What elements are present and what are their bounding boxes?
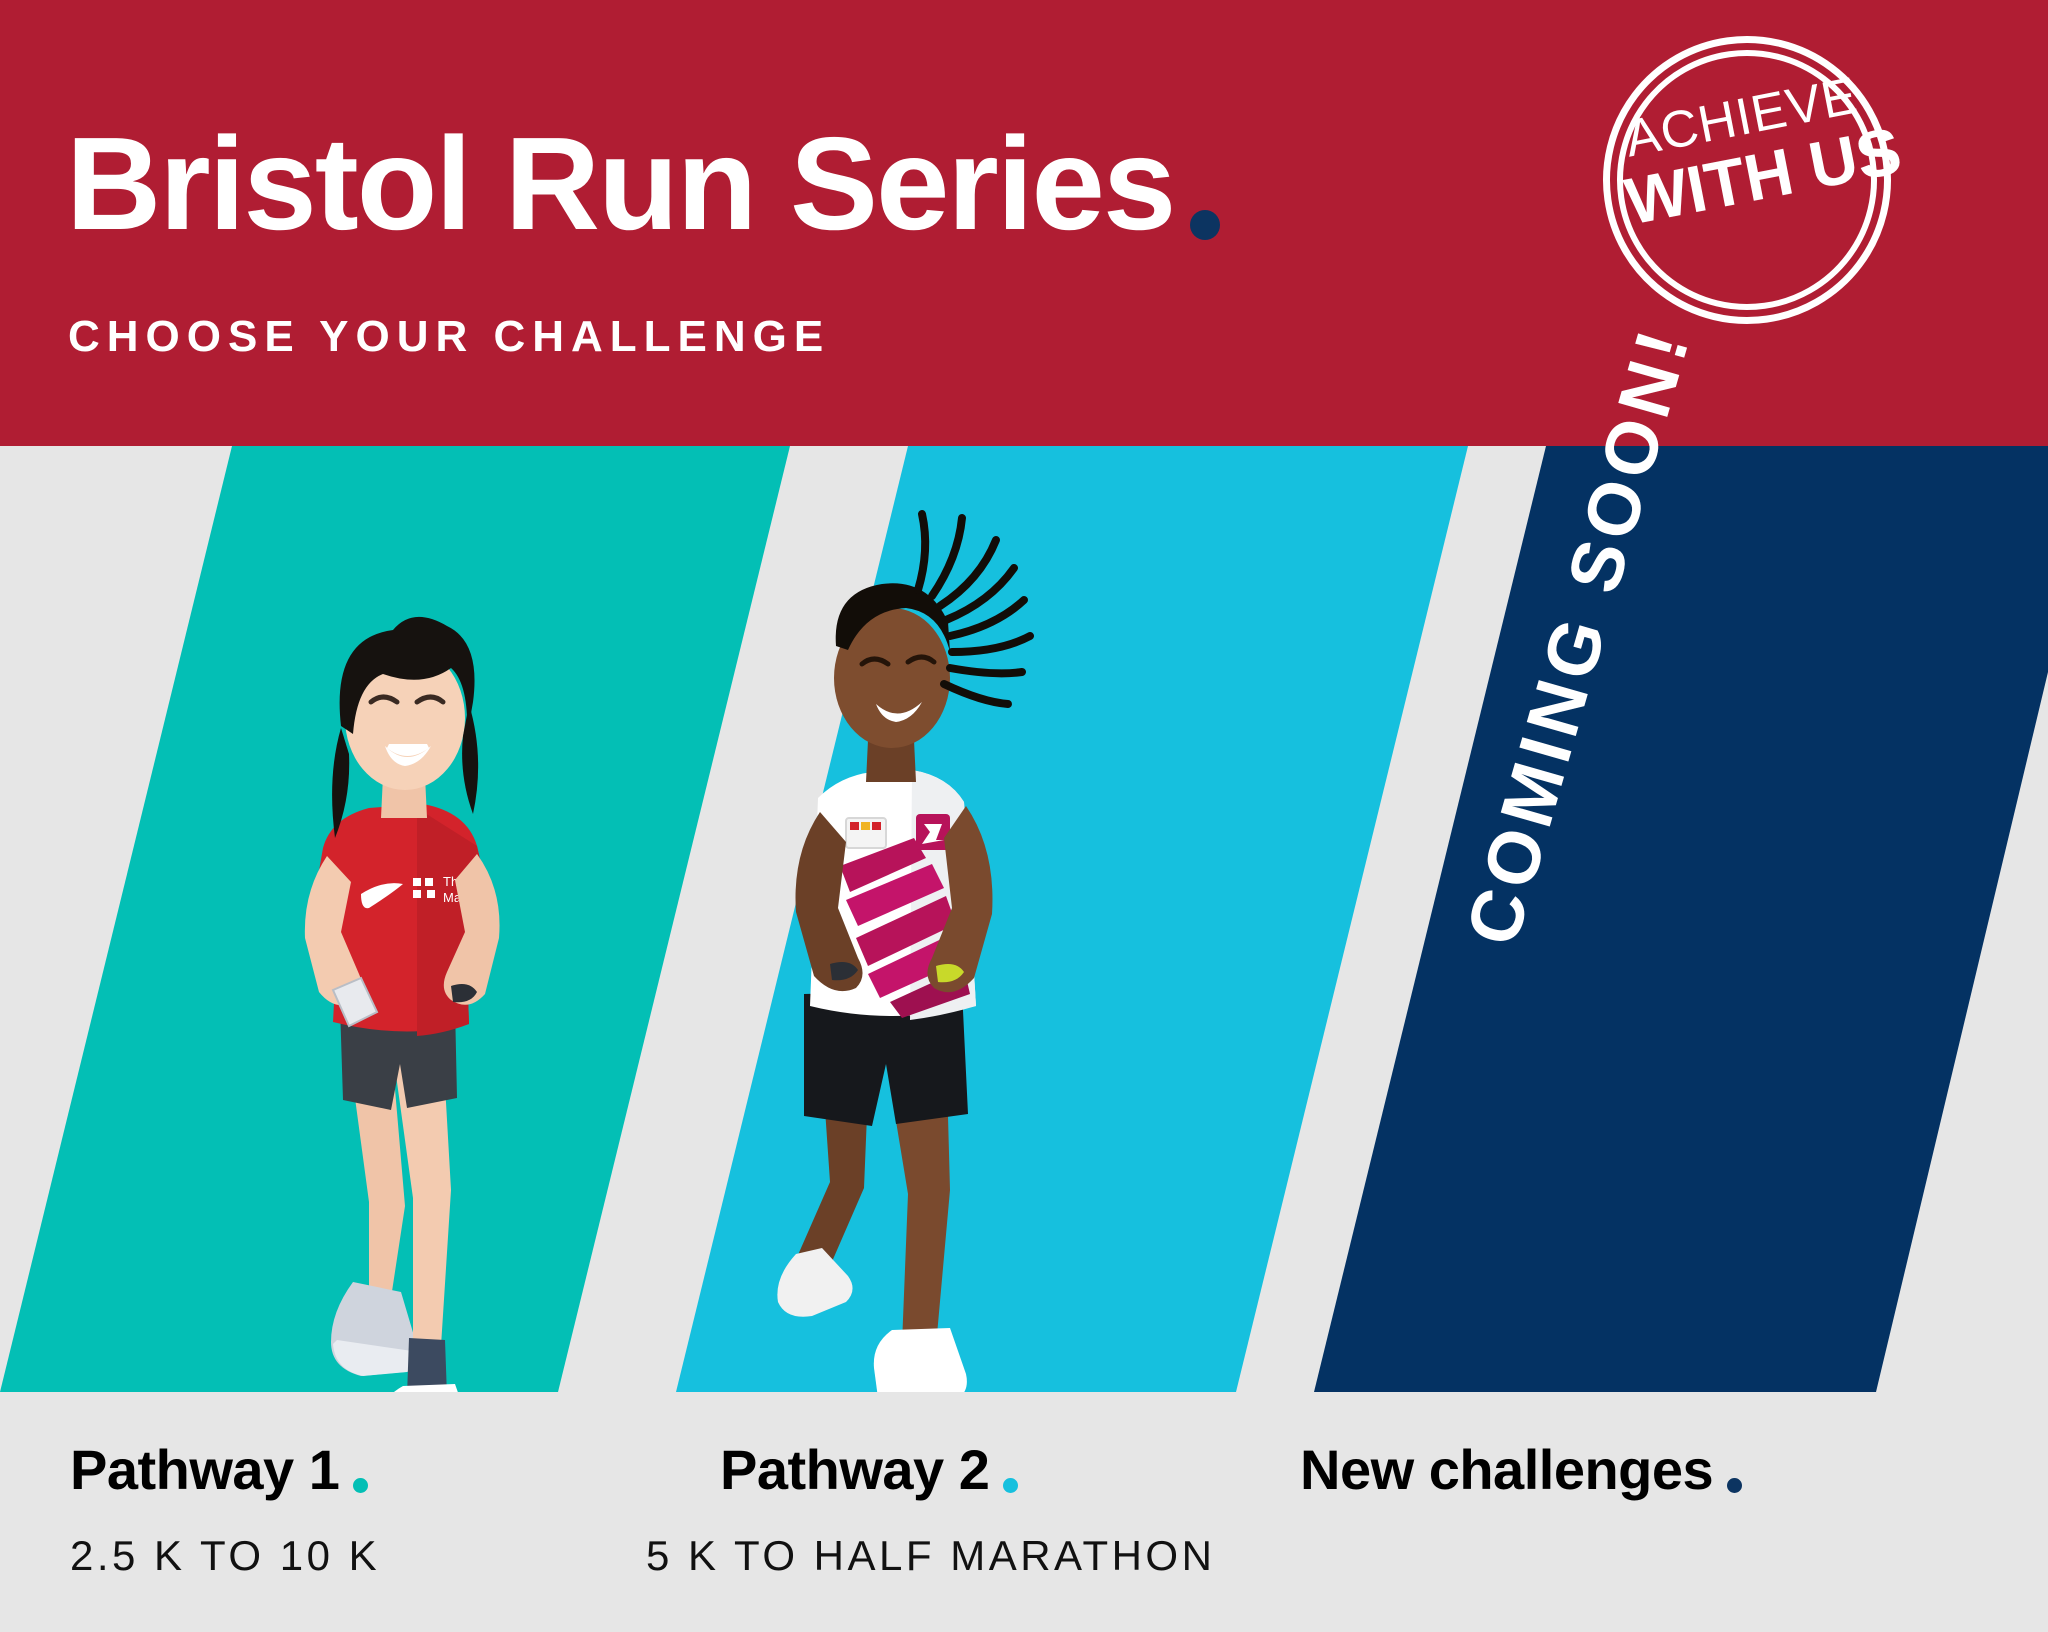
footer-labels: Pathway 1 2.5 K TO 10 K Pathway 2 5 K TO… (0, 1392, 2048, 1632)
new-challenges-accent-dot (1727, 1478, 1742, 1493)
label-title-row: Pathway 1 (70, 1442, 380, 1498)
label-block-new-challenges[interactable]: New challenges (1300, 1442, 1742, 1532)
pathway-1-title: Pathway 1 (70, 1442, 339, 1498)
female-runner-red-shirt: Thought Machine (155, 446, 575, 1406)
pathway-2-subtitle: 5 K TO HALF MARATHON (646, 1532, 1215, 1580)
pathway-2-title: Pathway 2 (720, 1442, 989, 1498)
page-title-text: Bristol Run Series (66, 118, 1174, 250)
poster-canvas: Bristol Run Series CHOOSE YOUR CHALLENGE… (0, 0, 2048, 1632)
header-band: Bristol Run Series CHOOSE YOUR CHALLENGE… (0, 0, 2048, 446)
pathway-2-accent-dot (1003, 1478, 1018, 1493)
label-title-row: New challenges (1300, 1442, 1742, 1498)
new-challenges-title: New challenges (1300, 1442, 1713, 1498)
label-block-pathway-1[interactable]: Pathway 1 2.5 K TO 10 K (70, 1442, 380, 1580)
title-accent-dot (1190, 210, 1220, 240)
page-subtitle: CHOOSE YOUR CHALLENGE (68, 312, 830, 362)
label-title-row: Pathway 2 (720, 1442, 1215, 1498)
label-block-pathway-2[interactable]: Pathway 2 5 K TO HALF MARATHON (720, 1442, 1215, 1580)
pathway-1-accent-dot (353, 1478, 368, 1493)
male-runner-white-vest (700, 446, 1100, 1406)
pathway-1-subtitle: 2.5 K TO 10 K (70, 1532, 380, 1580)
page-title: Bristol Run Series (66, 118, 1220, 250)
achieve-with-us-stamp: ACHIEVE WITH US (1597, 32, 1957, 322)
